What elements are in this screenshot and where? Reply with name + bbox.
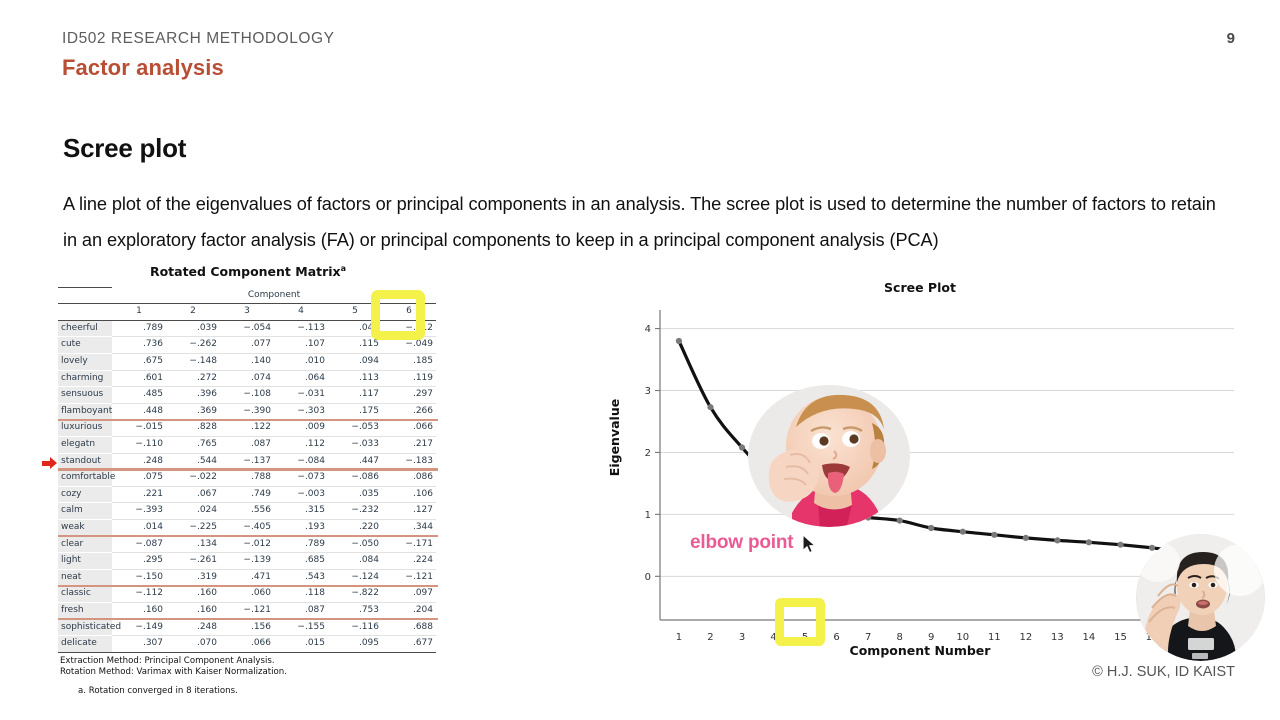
cell-sophisticated-c6: .688 [382, 619, 436, 636]
row-label: elegatn [58, 437, 112, 454]
xtick-label-9: 9 [928, 632, 934, 643]
course-title: ID502 RESEARCH METHODOLOGY [62, 30, 335, 48]
topic-title: Factor analysis [62, 55, 224, 81]
cell-luxurious-c5: −.053 [328, 420, 382, 437]
cell-elegatn-c5: −.033 [328, 437, 382, 454]
slide-canvas: ID502 RESEARCH METHODOLOGY Factor analys… [0, 0, 1280, 720]
cell-lovely-c5: .094 [328, 354, 382, 371]
cell-clear-c5: −.050 [328, 536, 382, 553]
cell-cozy-c3: .749 [220, 486, 274, 503]
xtick-label-13: 13 [1051, 632, 1064, 643]
cell-sophisticated-c4: −.155 [274, 619, 328, 636]
xtick-label-8: 8 [897, 632, 903, 643]
cell-luxurious-c4: .009 [274, 420, 328, 437]
cell-delicate-c5: .095 [328, 636, 382, 653]
cell-light-c1: .295 [112, 553, 166, 570]
group-separator-after-neat [58, 585, 438, 587]
cell-sensuous-c3: −.108 [220, 387, 274, 404]
cell-cozy-c5: .035 [328, 486, 382, 503]
table-caption-text: Rotated Component Matrix [150, 264, 341, 279]
cell-clear-c2: .134 [166, 536, 220, 553]
cell-cheerful-c1: .789 [112, 320, 166, 337]
row-label: cheerful [58, 320, 112, 337]
table-row: classic−.112.160.060.118−.822.097 [58, 586, 436, 603]
cell-comfortable-c4: −.073 [274, 470, 328, 487]
ytick-label-3: 3 [645, 386, 651, 397]
xtick-label-2: 2 [707, 632, 713, 643]
elbow-point-annotation: elbow point [690, 532, 793, 554]
cell-neat-c4: .543 [274, 569, 328, 586]
arrow-tip [50, 457, 57, 469]
cell-standout-c4: −.084 [274, 453, 328, 470]
row-label: cozy [58, 486, 112, 503]
xtick-label-15: 15 [1114, 632, 1127, 643]
table-row: luxurious−.015.828.122.009−.053.066 [58, 420, 436, 437]
cell-light-c4: .685 [274, 553, 328, 570]
cell-sophisticated-c2: .248 [166, 619, 220, 636]
cell-flamboyant-c5: .175 [328, 403, 382, 420]
data-point-2 [707, 404, 713, 410]
cell-sensuous-c4: −.031 [274, 387, 328, 404]
column-header-2: 2 [166, 304, 220, 321]
cell-sophisticated-c5: −.116 [328, 619, 382, 636]
baby-photo-inner [748, 385, 910, 527]
cell-clear-c1: −.087 [112, 536, 166, 553]
cell-elegatn-c3: .087 [220, 437, 274, 454]
cell-cozy-c1: .221 [112, 486, 166, 503]
cell-calm-c2: .024 [166, 503, 220, 520]
cell-weak-c5: .220 [328, 519, 382, 536]
column-header-1: 1 [112, 304, 166, 321]
cell-delicate-c3: .066 [220, 636, 274, 653]
table-row: lovely.675−.148.140.010.094.185 [58, 354, 436, 371]
column-header-4: 4 [274, 304, 328, 321]
cell-standout-c3: −.137 [220, 453, 274, 470]
cell-standout-c2: .544 [166, 453, 220, 470]
table-row: clear−.087.134−.012.789−.050−.171 [58, 536, 436, 553]
row-label: fresh [58, 602, 112, 619]
cell-elegatn-c1: −.110 [112, 437, 166, 454]
cell-comfortable-c6: .086 [382, 470, 436, 487]
cell-charming-c5: .113 [328, 370, 382, 387]
cell-classic-c6: .097 [382, 586, 436, 603]
row-label: comfortable [58, 470, 112, 487]
page-title: Scree plot [63, 133, 186, 164]
row-label: neat [58, 569, 112, 586]
cell-lovely-c1: .675 [112, 354, 166, 371]
ytick-label-0: 0 [645, 572, 651, 583]
cell-flamboyant-c6: .266 [382, 403, 436, 420]
body-paragraph: A line plot of the eigenvalues of factor… [63, 186, 1223, 258]
data-point-16 [1149, 545, 1155, 551]
table-row: cozy.221.067.749−.003.035.106 [58, 486, 436, 503]
cell-clear-c3: −.012 [220, 536, 274, 553]
cell-standout-c1: .248 [112, 453, 166, 470]
cell-classic-c1: −.112 [112, 586, 166, 603]
table-row: calm−.393.024.556.315−.232.127 [58, 503, 436, 520]
cell-delicate-c6: .677 [382, 636, 436, 653]
cell-classic-c4: .118 [274, 586, 328, 603]
group-separator-after-standout [58, 468, 438, 470]
table-row: elegatn−.110.765.087.112−.033.217 [58, 437, 436, 454]
cell-charming-c2: .272 [166, 370, 220, 387]
table-row: weak.014−.225−.405.193.220.344 [58, 519, 436, 536]
presenter-webcam-art [1136, 534, 1265, 661]
cell-calm-c4: .315 [274, 503, 328, 520]
cell-flamboyant-c2: .369 [166, 403, 220, 420]
chart-x-ticks: 123456789101112131415161718 [676, 632, 1222, 643]
cell-weak-c1: .014 [112, 519, 166, 536]
cell-fresh-c1: .160 [112, 602, 166, 619]
cell-charming-c3: .074 [220, 370, 274, 387]
xtick-label-7: 7 [865, 632, 871, 643]
cell-clear-c4: .789 [274, 536, 328, 553]
cell-calm-c5: −.232 [328, 503, 382, 520]
cell-cute-c1: .736 [112, 337, 166, 354]
cell-fresh-c5: .753 [328, 602, 382, 619]
cell-comfortable-c3: .788 [220, 470, 274, 487]
row-label: weak [58, 519, 112, 536]
cell-sensuous-c5: .117 [328, 387, 382, 404]
cell-lovely-c2: −.148 [166, 354, 220, 371]
chart-title: Scree Plot [600, 280, 1240, 295]
cell-neat-c3: .471 [220, 569, 274, 586]
group-separator-after-weak [58, 535, 438, 537]
row-label: sophisticated [58, 619, 112, 636]
footnote-a: a. Rotation converged in 8 iterations. [60, 686, 438, 698]
xtick-label-3: 3 [739, 632, 745, 643]
cell-elegatn-c2: .765 [166, 437, 220, 454]
ytick-label-4: 4 [645, 324, 651, 335]
table-caption: Rotated Component Matrixa [58, 264, 438, 279]
cell-cute-c3: .077 [220, 337, 274, 354]
cell-neat-c2: .319 [166, 569, 220, 586]
cell-cute-c2: −.262 [166, 337, 220, 354]
mouse-cursor [802, 534, 818, 556]
cell-light-c2: −.261 [166, 553, 220, 570]
cell-standout-c6: −.183 [382, 453, 436, 470]
row-label: charming [58, 370, 112, 387]
cell-elegatn-c4: .112 [274, 437, 328, 454]
cell-standout-c5: .447 [328, 453, 382, 470]
table-row: light.295−.261−.139.685.084.224 [58, 553, 436, 570]
rotation-method-note: Rotation Method: Varimax with Kaiser Nor… [60, 667, 438, 679]
chart-y-ticks: 01234 [645, 324, 660, 583]
group-separator-after-fresh [58, 618, 438, 620]
cell-clear-c6: −.171 [382, 536, 436, 553]
xtick-label-10: 10 [956, 632, 969, 643]
row-label: delicate [58, 636, 112, 653]
highlight-box-xtick-6 [775, 598, 825, 646]
row-label: standout [58, 453, 112, 470]
cell-neat-c1: −.150 [112, 569, 166, 586]
data-point-13 [1054, 537, 1060, 543]
presenter-webcam [1136, 534, 1265, 661]
xtick-label-12: 12 [1019, 632, 1032, 643]
data-point-3 [739, 444, 745, 450]
cell-delicate-c4: .015 [274, 636, 328, 653]
row-label: flamboyant [58, 403, 112, 420]
cell-light-c3: −.139 [220, 553, 274, 570]
cell-comfortable-c1: .075 [112, 470, 166, 487]
cell-cheerful-c2: .039 [166, 320, 220, 337]
cell-luxurious-c6: .066 [382, 420, 436, 437]
cell-luxurious-c3: .122 [220, 420, 274, 437]
cell-calm-c3: .556 [220, 503, 274, 520]
table-row: delicate.307.070.066.015.095.677 [58, 636, 436, 653]
table-caption-superscript: a [341, 264, 346, 273]
page-number: 9 [1227, 30, 1235, 47]
cell-sophisticated-c3: .156 [220, 619, 274, 636]
table-row: sophisticated−.149.248.156−.155−.116.688 [58, 619, 436, 636]
baby-photo-art [748, 385, 910, 527]
cell-cheerful-c4: −.113 [274, 320, 328, 337]
cell-charming-c1: .601 [112, 370, 166, 387]
presenter-webcam-inner [1136, 534, 1265, 661]
cell-cute-c4: .107 [274, 337, 328, 354]
cell-fresh-c6: .204 [382, 602, 436, 619]
cell-delicate-c2: .070 [166, 636, 220, 653]
cell-flamboyant-c1: .448 [112, 403, 166, 420]
cell-weak-c2: −.225 [166, 519, 220, 536]
cell-calm-c1: −.393 [112, 503, 166, 520]
cell-weak-c3: −.405 [220, 519, 274, 536]
cell-classic-c5: −.822 [328, 586, 382, 603]
rotated-component-matrix: Rotated Component Matrixa Component 1234… [58, 264, 438, 697]
data-point-8 [897, 518, 903, 524]
row-label-header [58, 304, 112, 321]
cell-lovely-c3: .140 [220, 354, 274, 371]
group-separator-after-flamboyant [58, 419, 438, 421]
xtick-label-11: 11 [988, 632, 1001, 643]
table-row: flamboyant.448.369−.390−.303.175.266 [58, 403, 436, 420]
ytick-label-2: 2 [645, 448, 651, 459]
cell-delicate-c1: .307 [112, 636, 166, 653]
cell-flamboyant-c4: −.303 [274, 403, 328, 420]
cell-cozy-c2: .067 [166, 486, 220, 503]
data-point-15 [1117, 542, 1123, 548]
cell-classic-c3: .060 [220, 586, 274, 603]
cell-luxurious-c2: .828 [166, 420, 220, 437]
cell-neat-c6: −.121 [382, 569, 436, 586]
cell-luxurious-c1: −.015 [112, 420, 166, 437]
cell-neat-c5: −.124 [328, 569, 382, 586]
cell-elegatn-c6: .217 [382, 437, 436, 454]
baby-photo [748, 385, 910, 527]
cell-cozy-c6: .106 [382, 486, 436, 503]
cell-weak-c6: .344 [382, 519, 436, 536]
cell-fresh-c3: −.121 [220, 602, 274, 619]
row-label: clear [58, 536, 112, 553]
cell-flamboyant-c3: −.390 [220, 403, 274, 420]
data-point-11 [991, 532, 997, 538]
extraction-method-note: Extraction Method: Principal Component A… [60, 656, 438, 668]
cell-light-c5: .084 [328, 553, 382, 570]
table-row: comfortable.075−.022.788−.073−.086.086 [58, 470, 436, 487]
cell-cheerful-c3: −.054 [220, 320, 274, 337]
cell-sensuous-c2: .396 [166, 387, 220, 404]
table-corner-cell [58, 288, 112, 304]
row-label: classic [58, 586, 112, 603]
row-label: cute [58, 337, 112, 354]
cell-charming-c6: .119 [382, 370, 436, 387]
xtick-label-1: 1 [676, 632, 682, 643]
cell-cute-c5: .115 [328, 337, 382, 354]
cell-calm-c6: .127 [382, 503, 436, 520]
table-row: sensuous.485.396−.108−.031.117.297 [58, 387, 436, 404]
table-footnotes: Extraction Method: Principal Component A… [58, 656, 438, 698]
ytick-label-1: 1 [645, 510, 651, 521]
cell-sensuous-c6: .297 [382, 387, 436, 404]
highlight-box-column-6 [371, 290, 425, 340]
cell-comfortable-c2: −.022 [166, 470, 220, 487]
cell-fresh-c2: .160 [166, 602, 220, 619]
data-point-1 [676, 338, 682, 344]
data-point-14 [1086, 539, 1092, 545]
column-header-3: 3 [220, 304, 274, 321]
xtick-label-6: 6 [833, 632, 839, 643]
cell-charming-c4: .064 [274, 370, 328, 387]
data-point-12 [1023, 535, 1029, 541]
row-label: luxurious [58, 420, 112, 437]
data-point-10 [960, 529, 966, 535]
xtick-label-14: 14 [1083, 632, 1096, 643]
row-label: sensuous [58, 387, 112, 404]
cell-classic-c2: .160 [166, 586, 220, 603]
cell-light-c6: .224 [382, 553, 436, 570]
cell-cozy-c4: −.003 [274, 486, 328, 503]
cell-lovely-c4: .010 [274, 354, 328, 371]
data-point-9 [928, 525, 934, 531]
chart-x-axis-label: Component Number [600, 643, 1240, 658]
row-label: calm [58, 503, 112, 520]
cell-lovely-c6: .185 [382, 354, 436, 371]
table-row: charming.601.272.074.064.113.119 [58, 370, 436, 387]
table-row: fresh.160.160−.121.087.753.204 [58, 602, 436, 619]
cell-comfortable-c5: −.086 [328, 470, 382, 487]
row-label: light [58, 553, 112, 570]
copyright-credit: © H.J. SUK, ID KAIST [1092, 664, 1235, 680]
cell-sensuous-c1: .485 [112, 387, 166, 404]
row-label: lovely [58, 354, 112, 371]
cell-fresh-c4: .087 [274, 602, 328, 619]
cell-weak-c4: .193 [274, 519, 328, 536]
table-row: standout.248.544−.137−.084.447−.183 [58, 453, 436, 470]
table-row: neat−.150.319.471.543−.124−.121 [58, 569, 436, 586]
